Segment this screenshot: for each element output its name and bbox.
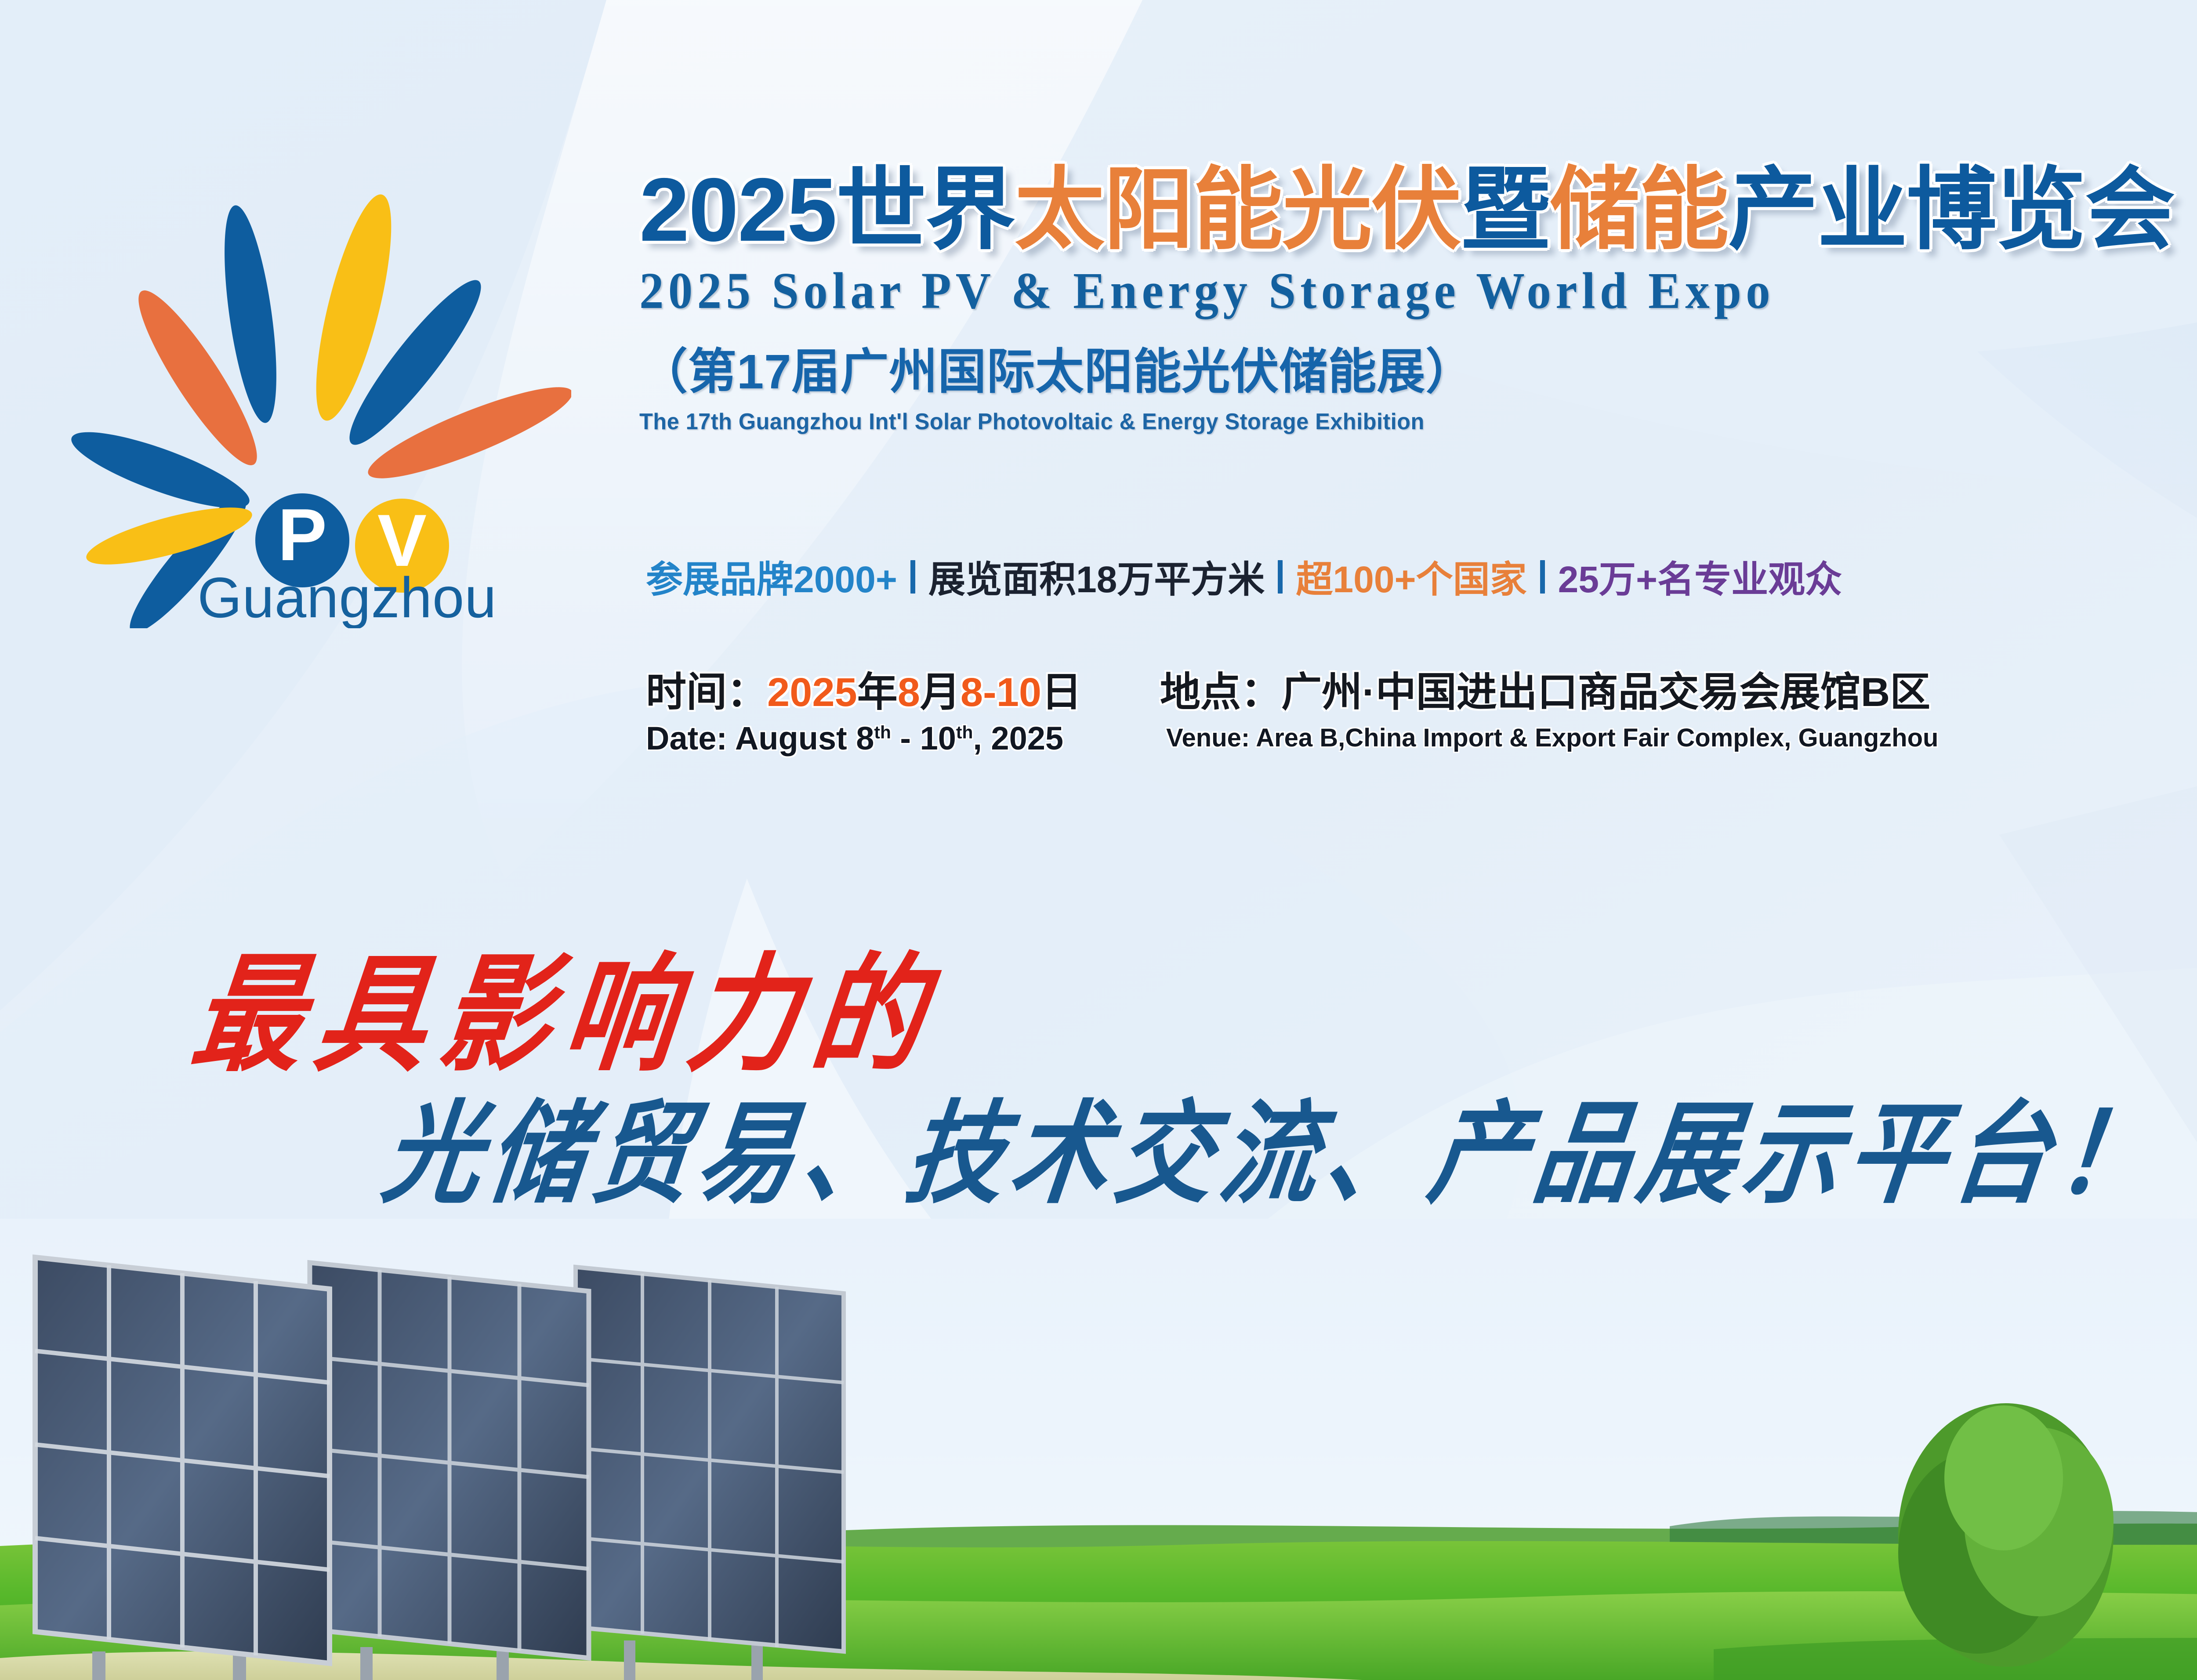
date-cn: 时间：2025年8月8-10日 <box>646 668 1082 717</box>
date-cn-year: 2025 <box>767 670 857 715</box>
main-title-en: 2025 Solar PV & Energy Storage World Exp… <box>639 261 2197 321</box>
landscape-illustration <box>0 1219 2197 1680</box>
date-cn-day-unit: 日 <box>1041 670 1082 715</box>
date-cn-year-unit: 年 <box>857 670 898 715</box>
main-title-cn: 2025世界太阳能光伏暨储能产业博览会 <box>639 165 2197 255</box>
venue-en: Venue: Area B,China Import & Export Fair… <box>1166 723 1938 753</box>
logo-wordmark: Guangzhou <box>197 565 497 628</box>
date-cn-days: 8-10 <box>961 670 1041 715</box>
title-seg-2: 太阳能光伏 <box>1015 159 1461 260</box>
tree-left <box>1898 1403 2114 1667</box>
title-seg-1: 2025世界 <box>639 159 1015 260</box>
solar-panel-array <box>35 1257 844 1680</box>
title-seg-4: 储能 <box>1550 159 1728 260</box>
date-venue-block: 时间：2025年8月8-10日 Date: August 8th - 10th,… <box>646 668 1938 757</box>
venue-column: 地点：广州·中国进出口商品交易会展馆B区 Venue: Area B,China… <box>1160 668 1938 753</box>
venue-cn-label: 地点： <box>1160 670 1281 715</box>
stat-visitors: 25万+名专业观众 <box>1558 550 1842 603</box>
venue-cn: 地点：广州·中国进出口商品交易会展馆B区 <box>1160 668 1938 717</box>
date-column: 时间：2025年8月8-10日 Date: August 8th - 10th,… <box>646 668 1082 757</box>
date-en-d2: 10 <box>920 720 956 757</box>
date-en-d1-sup: th <box>874 722 891 742</box>
date-en-d2-sup: th <box>956 722 973 742</box>
bottom-scene <box>0 1219 2197 1680</box>
promo-banner: P V Guangzhou 2025世界太阳能光伏暨储能产业博览会 2025 S… <box>0 0 2197 1680</box>
date-cn-month: 8 <box>898 670 920 715</box>
subtitle-en: The 17th Guangzhou Int'l Solar Photovolt… <box>639 409 2197 435</box>
title-seg-3: 暨 <box>1461 159 1550 260</box>
stat-divider <box>1278 560 1283 594</box>
date-en-dash: - <box>891 720 920 757</box>
logo-letter-p: P <box>278 493 327 576</box>
date-en: Date: August 8th - 10th, 2025 <box>646 720 1082 757</box>
date-en-year: , 2025 <box>973 720 1063 757</box>
title-seg-5: 产业博览会 <box>1728 159 2174 260</box>
pv-guangzhou-logo: P V Guangzhou <box>66 189 571 628</box>
logo-sunburst-icon: P V Guangzhou <box>66 189 571 628</box>
subtitle-cn: （第17届广州国际太阳能光伏储能展） <box>639 332 2197 402</box>
stat-countries: 超100+个国家 <box>1296 550 1526 603</box>
venue-cn-value: 广州·中国进出口商品交易会展馆B区 <box>1281 670 1930 715</box>
date-en-d1: 8 <box>856 720 874 757</box>
stat-divider <box>1540 560 1545 594</box>
stat-brands: 参展品牌2000+ <box>646 550 897 603</box>
slogan-line-blue: 光储贸易、技术交流、产品展示平台！ <box>376 1063 2173 1224</box>
headline-block: 2025世界太阳能光伏暨储能产业博览会 2025 Solar PV & Ener… <box>639 165 2197 435</box>
stat-divider <box>910 560 915 594</box>
date-cn-label: 时间： <box>646 670 767 715</box>
date-cn-month-unit: 月 <box>920 670 961 715</box>
stat-area: 展览面积18万平方米 <box>928 550 1265 603</box>
date-en-prefix: Date: August <box>646 720 856 757</box>
stats-row: 参展品牌2000+ 展览面积18万平方米 超100+个国家 25万+名专业观众 <box>646 550 1842 603</box>
